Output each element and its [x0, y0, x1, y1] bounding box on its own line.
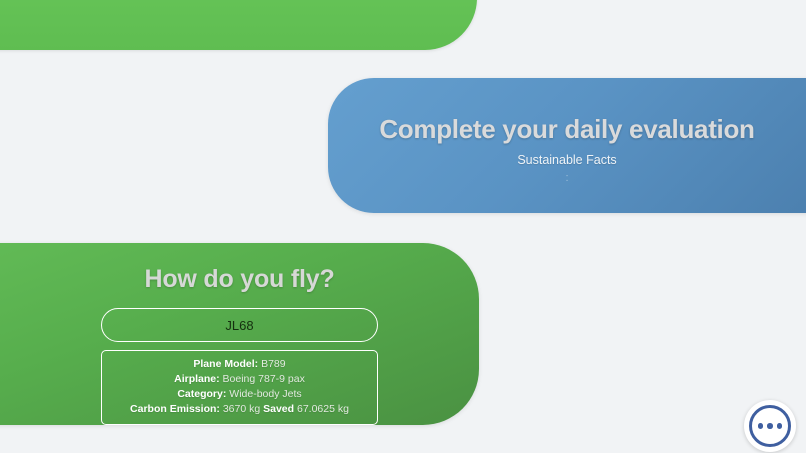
ellipsis-dot [767, 423, 773, 429]
detail-key: Carbon Emission: [130, 403, 220, 415]
tip-card[interactable]: Recycle, reduce, and reuse [0, 0, 477, 50]
detail-key-saved: Saved [263, 403, 294, 415]
flight-card-content: How do you fly? Plane Model: B789 Airpla… [0, 243, 479, 425]
more-options-button[interactable] [744, 400, 796, 452]
detail-row: Plane Model: B789 [193, 358, 285, 371]
detail-key: Plane Model: [193, 358, 258, 370]
detail-value: B789 [261, 358, 286, 370]
ellipsis-dot [777, 423, 783, 429]
flight-card-title: How do you fly? [144, 265, 334, 294]
detail-value: 3670 kg [223, 403, 260, 415]
flight-card: How do you fly? Plane Model: B789 Airpla… [0, 243, 479, 425]
daily-evaluation-subtitle: Sustainable Facts [517, 153, 616, 167]
detail-key: Airplane: [174, 373, 220, 385]
more-ellipsis-icon [749, 405, 791, 447]
detail-value-saved: 67.0625 kg [297, 403, 349, 415]
detail-value: Wide-body Jets [229, 388, 301, 400]
ellipsis-dot [758, 423, 764, 429]
detail-row: Category: Wide-body Jets [177, 388, 301, 401]
flight-details-panel: Plane Model: B789 Airplane: Boeing 787-9… [101, 350, 378, 425]
daily-evaluation-content: Complete your daily evaluation Sustainab… [328, 78, 806, 213]
detail-row: Airplane: Boeing 787-9 pax [174, 373, 305, 386]
app-screen: Recycle, reduce, and reuse Complete your… [0, 0, 806, 453]
flight-number-input[interactable] [101, 308, 378, 342]
daily-evaluation-title: Complete your daily evaluation [379, 114, 754, 145]
detail-row: Carbon Emission: 3670 kg Saved 67.0625 k… [130, 403, 349, 416]
detail-value: Boeing 787-9 pax [223, 373, 305, 385]
daily-evaluation-colon: : [565, 174, 568, 182]
daily-evaluation-card[interactable]: Complete your daily evaluation Sustainab… [328, 78, 806, 213]
detail-key: Category: [177, 388, 226, 400]
